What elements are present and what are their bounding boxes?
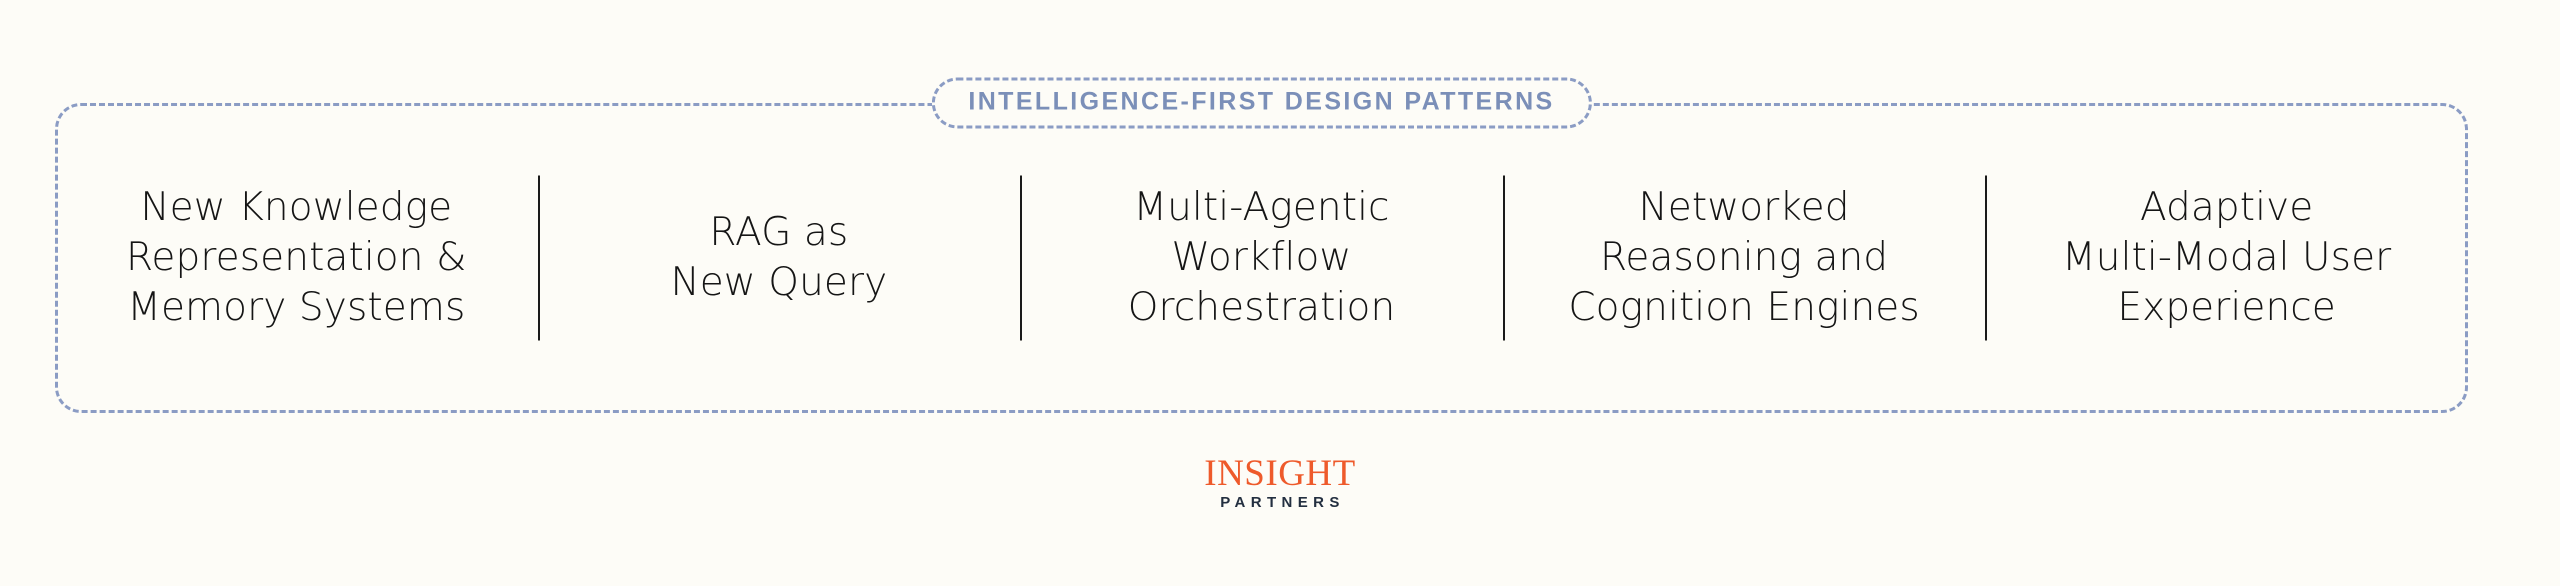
panel-title-badge: Intelligence-First Design Patterns xyxy=(931,78,1591,129)
pattern-column-5[interactable]: Adaptive Multi-Modal User Experience xyxy=(1985,103,2468,413)
pattern-column-label: RAG as New Query xyxy=(670,208,887,309)
pattern-column-label: New Knowledge Representation & Memory Sy… xyxy=(126,183,467,334)
pattern-column-label: Multi-Agentic Workflow Orchestration xyxy=(1128,183,1396,334)
pattern-columns: New Knowledge Representation & Memory Sy… xyxy=(55,103,2468,413)
panel-title-label: Intelligence-First Design Patterns xyxy=(968,90,1554,115)
pattern-column-3[interactable]: Multi-Agentic Workflow Orchestration xyxy=(1020,103,1503,413)
logo-wordmark-primary: INSIGHT xyxy=(1204,455,1355,492)
pattern-column-label: Adaptive Multi-Modal User Experience xyxy=(2062,183,2391,334)
pattern-column-label: Networked Reasoning and Cognition Engine… xyxy=(1568,183,1919,334)
insight-partners-logo: INSIGHT PARTNERS xyxy=(0,455,2560,510)
design-patterns-panel: Intelligence-First Design Patterns New K… xyxy=(55,103,2468,413)
pattern-column-1[interactable]: New Knowledge Representation & Memory Sy… xyxy=(55,103,538,413)
pattern-column-4[interactable]: Networked Reasoning and Cognition Engine… xyxy=(1503,103,1986,413)
logo-wordmark-secondary: PARTNERS xyxy=(1215,495,1345,510)
pattern-column-2[interactable]: RAG as New Query xyxy=(538,103,1021,413)
